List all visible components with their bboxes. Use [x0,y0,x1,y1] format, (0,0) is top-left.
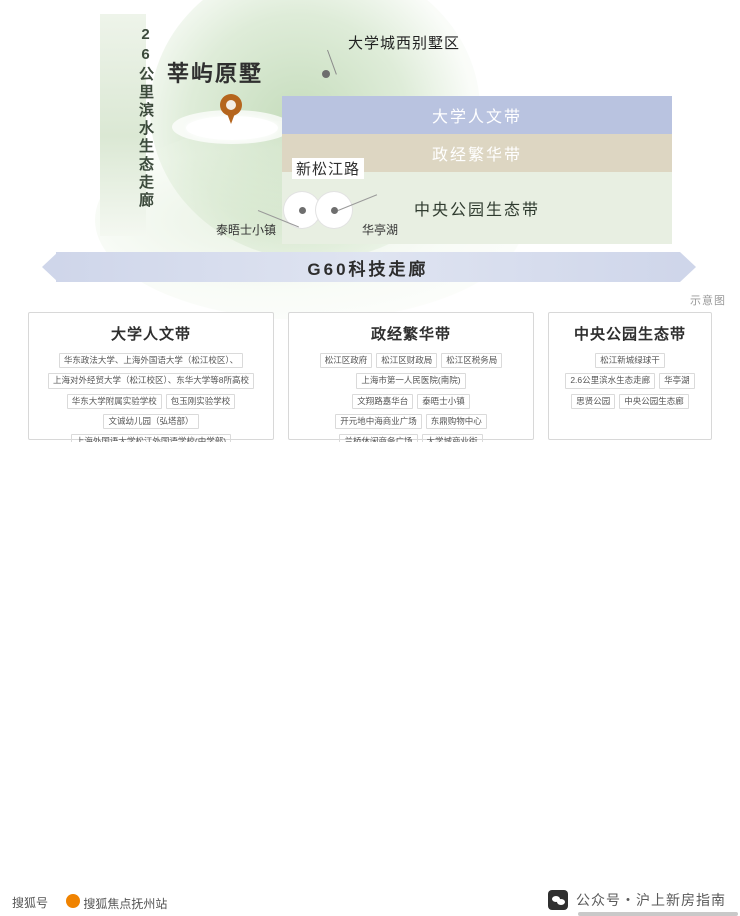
vertical-title: 26公里滨水生态走廊 [130,26,160,226]
callout-label-villa-district: 大学城西别墅区 [348,32,460,53]
card-row: 思贤公园 中央公园生态廊 [549,394,711,409]
scrollbar[interactable] [578,912,738,916]
card-row: 华东大学附属实验学校 包玉刚实验学校 [29,394,273,409]
card-chip: 松江区财政局 [376,353,437,368]
card-title: 政经繁华带 [289,323,533,344]
landmark-dot-thames-town [299,207,306,214]
card-row: 松江新城绿球干 [549,353,711,368]
sohu-account: 搜狐焦点抚州站 [66,894,167,912]
card-chip: 松江区税务局 [441,353,502,368]
sohu-label: 搜狐号 [12,894,48,911]
card-row: 开元地中海商业广场 东鼎购物中心 [289,414,533,429]
card-chip: 东鼎购物中心 [426,414,487,429]
diagram-area: 26公里滨水生态走廊 莘屿原墅 大学城西别墅区 大学人文带 政经繁华带 中央公园… [0,0,740,310]
card-chip: 2.6公里滨水生态走廊 [565,373,655,388]
card-row: 松江区政府 松江区财政局 松江区税务局 [289,353,533,368]
wechat-brand: 公众号・沪上新房指南 [548,890,726,910]
card-politics-economy: 政经繁华带 松江区政府 松江区财政局 松江区税务局 上海市第一人民医院(南院) … [288,312,534,440]
landmark-dot-huating-lake [331,207,338,214]
corridor-arrow-right-icon [680,252,696,282]
corridor-label: G60科技走廊 [307,255,428,280]
card-row: 文翔路嘉华台 泰晤士小镇 [289,394,533,409]
card-row: 文诚幼儿园（弘塔部） [29,414,273,429]
diagram-note: 示意图 [690,292,726,308]
project-name: 莘屿原墅 [167,56,263,88]
card-title: 中央公园生态带 [549,323,711,344]
belt-university-humanities: 大学人文带 [282,96,672,134]
card-university-humanities: 大学人文带 华东政法大学、上海外国语大学（松江校区）、 上海对外经贸大学（松江校… [28,312,274,440]
corridor-bar-g60: G60科技走廊 [56,252,680,282]
wechat-label: 公众号・沪上新房指南 [576,890,726,910]
sohu-account-label: 搜狐焦点抚州站 [83,897,167,911]
road-line [200,160,680,166]
card-chip: 松江新城绿球干 [595,353,665,368]
footer: 搜狐号 搜狐焦点抚州站 公众号・沪上新房指南 [0,442,740,477]
card-chip: 文诚幼儿园（弘塔部） [103,414,198,429]
card-chip: 泰晤士小镇 [417,394,470,409]
card-chip: 思贤公园 [571,394,615,409]
card-title: 大学人文带 [29,323,273,344]
map-pin-hole [226,100,236,110]
sohu-brand: 搜狐号 [12,894,48,911]
card-rows: 松江区政府 松江区财政局 松江区税务局 上海市第一人民医院(南院) 文翔路嘉华台… [289,353,533,450]
callout-dot [322,70,330,78]
wechat-icon [548,890,568,910]
card-row: 上海对外经贸大学（松江校区）、东华大学等8所高校 [29,373,273,388]
card-row: 上海市第一人民医院(南院) [289,373,533,388]
card-rows: 华东政法大学、上海外国语大学（松江校区）、 上海对外经贸大学（松江校区）、东华大… [29,353,273,450]
card-chip: 开元地中海商业广场 [335,414,422,429]
belt-label: 中央公园生态带 [414,196,540,220]
sohu-logo-icon [66,894,80,908]
card-chip: 华东大学附属实验学校 [67,394,162,409]
card-row: 华东政法大学、上海外国语大学（松江校区）、 [29,353,273,368]
landmark-label-huating-lake: 华亭湖 [362,221,398,238]
card-row: 2.6公里滨水生态走廊 华亭湖 [549,373,711,388]
landmark-label-thames-town: 泰晤士小镇 [216,221,276,238]
card-chip: 包玉刚实验学校 [166,394,236,409]
card-chip: 文翔路嘉华台 [352,394,413,409]
card-chip: 上海市第一人民医院(南院) [356,373,465,388]
cards-area: 大学人文带 华东政法大学、上海外国语大学（松江校区）、 上海对外经贸大学（松江校… [0,312,740,442]
belt-label: 大学人文带 [432,103,522,127]
card-chip: 华东政法大学、上海外国语大学（松江校区）、 [59,353,243,368]
card-chip: 中央公园生态廊 [619,394,689,409]
card-chip: 上海对外经贸大学（松江校区）、东华大学等8所高校 [48,373,254,388]
card-chip: 松江区政府 [320,353,373,368]
card-rows: 松江新城绿球干 2.6公里滨水生态走廊 华亭湖 思贤公园 中央公园生态廊 [549,353,711,409]
card-central-park-ecology: 中央公园生态带 松江新城绿球干 2.6公里滨水生态走廊 华亭湖 思贤公园 中央公… [548,312,712,440]
road-label-xinsongjiang: 新松江路 [292,158,364,179]
card-chip: 华亭湖 [659,373,695,388]
